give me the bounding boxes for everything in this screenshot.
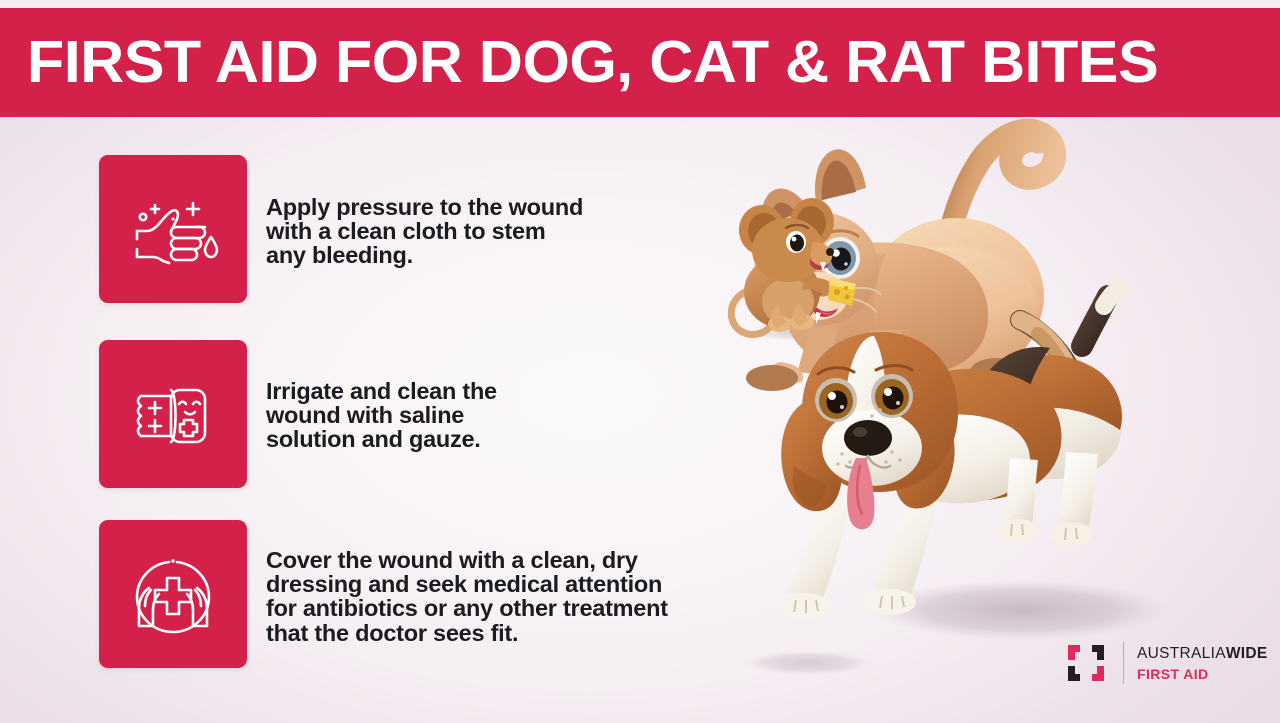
logo-line-1: AUSTRALIAWIDE [1137,645,1268,662]
hands-protecting-cross-icon [127,548,219,640]
step-3-text: Cover the wound with a clean, dry dressi… [247,520,668,645]
logo-australia-text: AUSTRALIA [1137,645,1226,662]
animal-illustration [720,110,1220,680]
dog-shadow-main [872,580,1168,640]
step-item-1: Apply pressure to the wound with a clean… [99,155,583,303]
dog-shadow-paw [746,651,870,675]
australia-wide-cross-icon [1063,640,1109,686]
brand-logo[interactable]: AUSTRALIAWIDE FIRST AID [1063,640,1268,686]
header-banner: FIRST AID FOR DOG, CAT & RAT BITES [0,8,1280,117]
bandaged-finger-bleeding-icon [127,183,219,275]
step-item-3: Cover the wound with a clean, dry dressi… [99,520,668,668]
step-2-text: Irrigate and clean the wound with saline… [247,340,497,452]
step-3-icon-tile [99,520,247,668]
top-strip [0,0,1280,8]
gauze-roll-icon [127,368,219,460]
page-title: FIRST AID FOR DOG, CAT & RAT BITES [0,33,1158,92]
step-1-icon-tile [99,155,247,303]
step-1-text: Apply pressure to the wound with a clean… [247,155,583,268]
infographic-poster: FIRST AID FOR DOG, CAT & RAT BITES [0,0,1280,723]
logo-wide-text: WIDE [1226,645,1268,662]
logo-wordmark: AUSTRALIAWIDE FIRST AID [1137,646,1268,681]
logo-divider [1123,642,1124,684]
step-item-2: Irrigate and clean the wound with saline… [99,340,497,488]
step-2-icon-tile [99,340,247,488]
logo-line-2: FIRST AID [1137,667,1268,681]
